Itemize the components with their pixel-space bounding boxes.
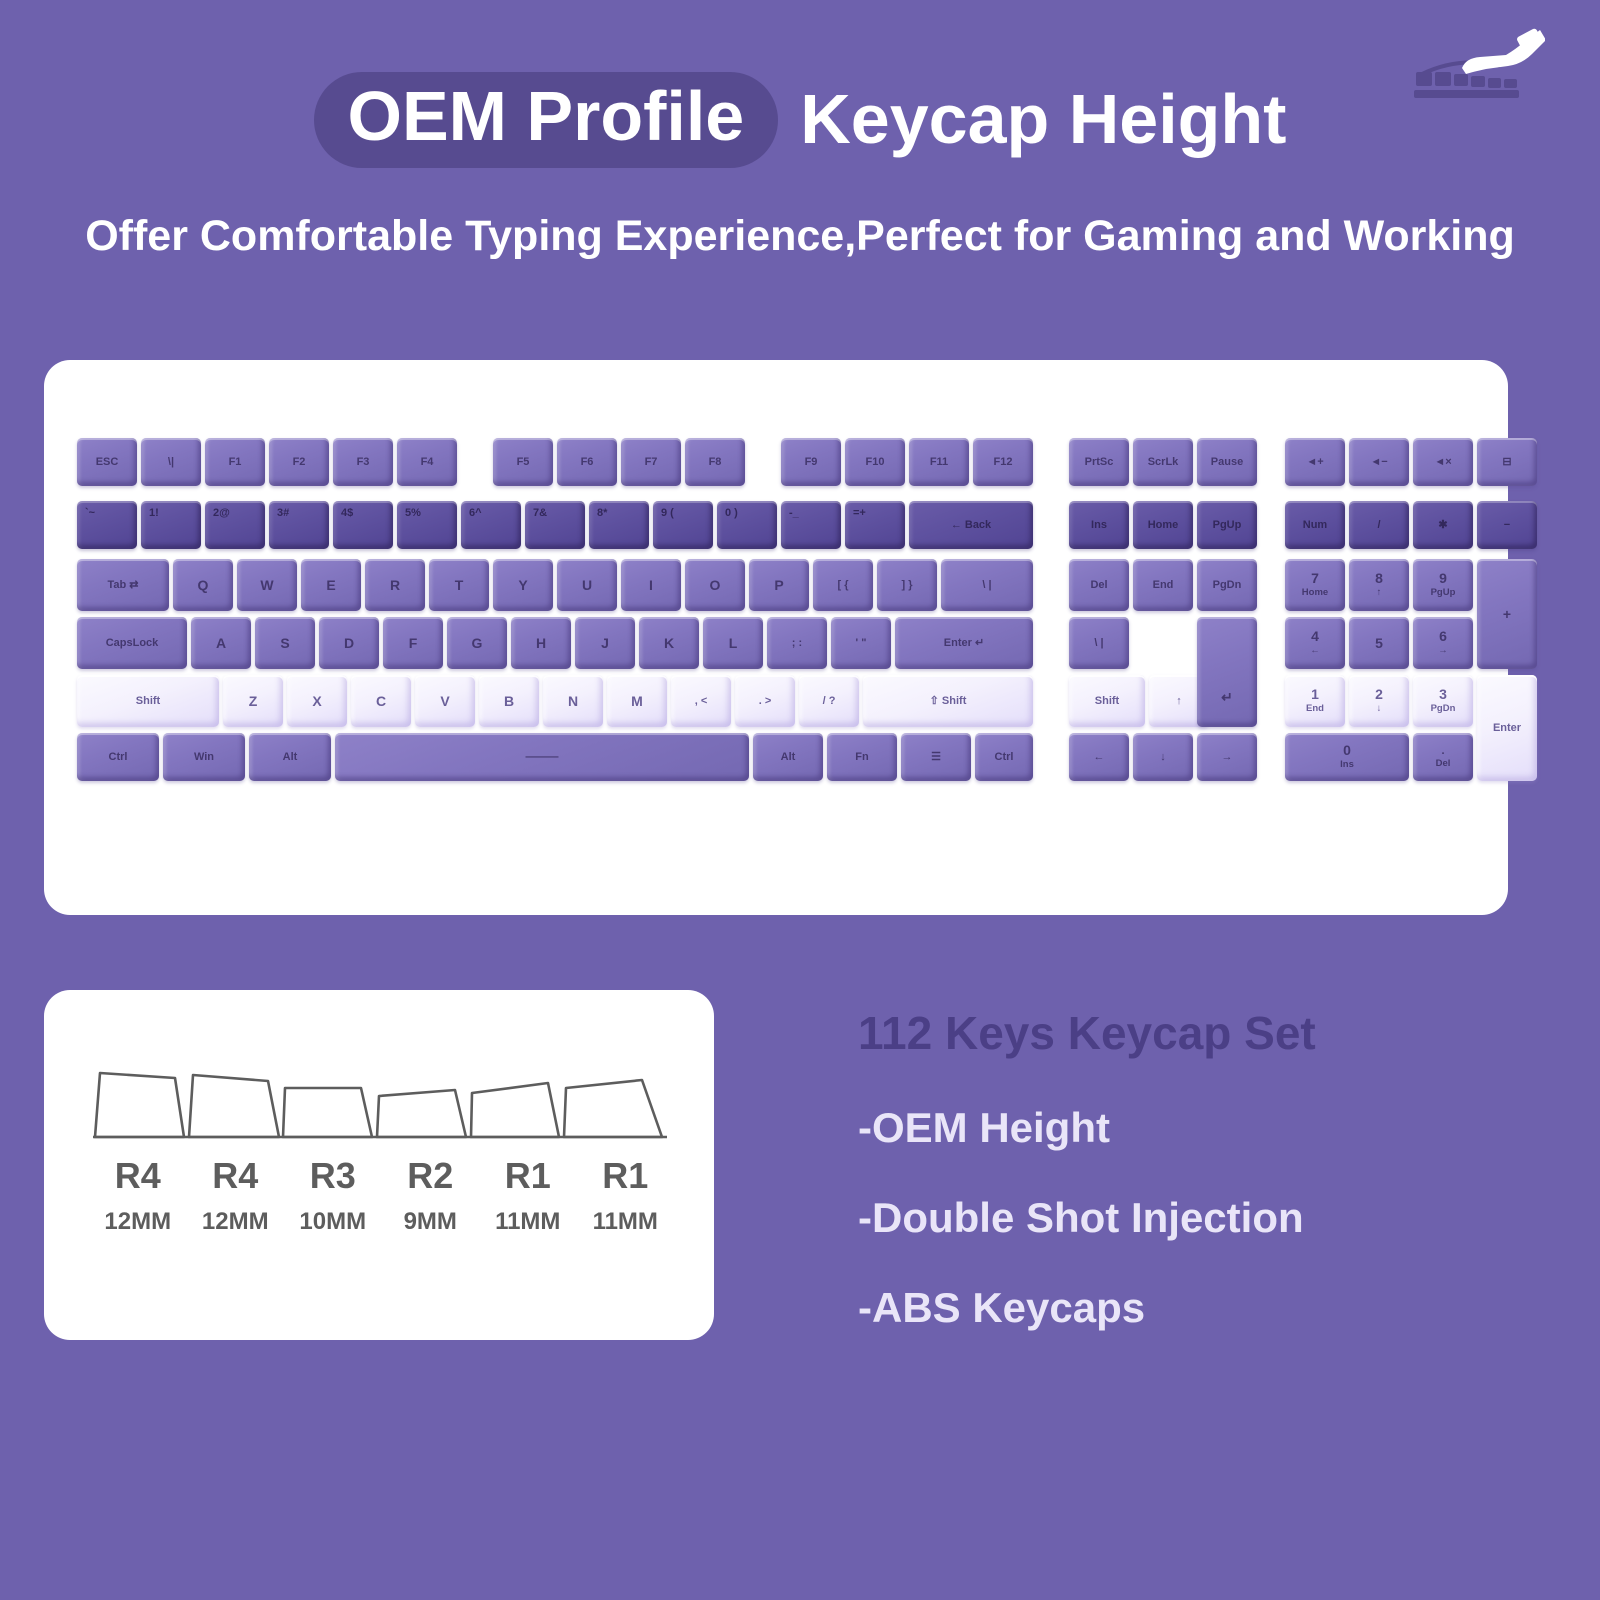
key-label: ◄+ (1306, 456, 1323, 468)
key-label: ScrLk (1148, 456, 1179, 468)
key-0[interactable]: 0Ins (1285, 733, 1409, 781)
key-label: Tab ⇄ (107, 579, 138, 591)
key--[interactable]: . > (735, 675, 795, 727)
key-label: PrtSc (1085, 456, 1114, 468)
key-m[interactable]: M (607, 675, 667, 727)
key-label: Win (194, 751, 214, 763)
key-sublabel: Ins (1340, 760, 1354, 770)
key-9-[interactable]: 9 ( (653, 501, 713, 549)
key-numpad-plus[interactable]: + (1477, 559, 1537, 669)
key-label: ↑ (1176, 695, 1182, 707)
key-label: / ? (823, 695, 836, 707)
key-f4[interactable]: F4 (397, 438, 457, 486)
key-label: F8 (709, 456, 722, 468)
key-label: I (649, 578, 653, 593)
key-label: Pause (1211, 456, 1243, 468)
key-9[interactable]: 9PgUp (1413, 559, 1473, 611)
key-f5[interactable]: F5 (493, 438, 553, 486)
key-label: − (1504, 519, 1510, 531)
key-label: V (440, 694, 449, 709)
key-label: Ins (1091, 519, 1107, 531)
key--[interactable]: ' " (831, 617, 891, 669)
key-label: -_ (789, 507, 799, 519)
keyboard-card: ESC\|F1F2F3F4F5F6F7F8F9F10F11F12PrtScScr… (44, 360, 1508, 915)
key-label: ↓ (1160, 751, 1166, 763)
key--shift[interactable]: ⇧ Shift (863, 675, 1033, 727)
key-tab-[interactable]: Tab ⇄ (77, 559, 169, 611)
key--[interactable]: → (1197, 733, 1257, 781)
title-pill-label: OEM Profile (348, 80, 745, 154)
key-sublabel: → (1438, 646, 1448, 656)
profile-height-label: 12MM (89, 1208, 187, 1236)
key-label: L (729, 636, 738, 651)
key-scrlk[interactable]: ScrLk (1133, 438, 1193, 486)
key-prtsc[interactable]: PrtSc (1069, 438, 1129, 486)
key-f11[interactable]: F11 (909, 438, 969, 486)
profile-height-label: 11MM (479, 1208, 577, 1236)
keycap-profile-diagram (89, 1045, 674, 1150)
specs-heading: 112 Keys Keycap Set (858, 1006, 1558, 1060)
key-label: Ctrl (995, 751, 1014, 763)
key--[interactable]: -_ (781, 501, 841, 549)
key-label: 9 (1439, 571, 1447, 586)
key-b[interactable]: B (479, 675, 539, 727)
key-pgup[interactable]: PgUp (1197, 501, 1257, 549)
key-label: C (376, 694, 386, 709)
key--[interactable]: , < (671, 675, 731, 727)
key-label: ◄− (1370, 456, 1387, 468)
key-5-[interactable]: 5% (397, 501, 457, 549)
key-label: ✱ (1438, 519, 1447, 531)
spec-item: -OEM Height (858, 1104, 1558, 1152)
key-label: CapsLock (106, 637, 159, 649)
key-label: F1 (229, 456, 242, 468)
key-0-[interactable]: 0 ) (717, 501, 777, 549)
key-label: 3 (1439, 687, 1447, 702)
key-label: Alt (283, 751, 298, 763)
key-p[interactable]: P (749, 559, 809, 611)
key-n[interactable]: N (543, 675, 603, 727)
key-label: W (260, 578, 273, 593)
key--[interactable]: ; : (767, 617, 827, 669)
key-home[interactable]: Home (1133, 501, 1193, 549)
key-label: F11 (930, 456, 948, 468)
key-label: Shift (136, 695, 160, 707)
key-label: Num (1303, 519, 1327, 531)
key-1-[interactable]: 1! (141, 501, 201, 549)
key-num[interactable]: Num (1285, 501, 1345, 549)
key-label: 8 (1375, 571, 1383, 586)
key-enter-[interactable]: Enter ↵ (895, 617, 1033, 669)
key-label: 0 (1343, 743, 1351, 758)
key-label: 5% (405, 507, 421, 519)
key--[interactable]: [ { (813, 559, 873, 611)
key-2[interactable]: 2↓ (1349, 675, 1409, 727)
key-label: Fn (855, 751, 868, 763)
key-label: F4 (421, 456, 434, 468)
key-o[interactable]: O (685, 559, 745, 611)
profile-row-label: R1 (479, 1155, 577, 1197)
keyboard-layout: ESC\|F1F2F3F4F5F6F7F8F9F10F11F12PrtScScr… (77, 438, 1497, 838)
key-sublabel: Home (1302, 588, 1328, 598)
key-f2[interactable]: F2 (269, 438, 329, 486)
key-1[interactable]: 1End (1285, 675, 1345, 727)
key-label: 5 (1375, 636, 1383, 651)
key-label: Q (198, 578, 209, 593)
key-label: \ | (982, 579, 991, 591)
key-label: 2@ (213, 507, 230, 519)
key-label: 1! (149, 507, 159, 519)
key-pgdn[interactable]: PgDn (1197, 559, 1257, 611)
key-label: 1 (1311, 687, 1319, 702)
key-label: A (216, 636, 226, 651)
key-pause[interactable]: Pause (1197, 438, 1257, 486)
key-7[interactable]: 7Home (1285, 559, 1345, 611)
key-label: . (1441, 745, 1444, 757)
key-fn[interactable]: Fn (827, 733, 897, 781)
key--[interactable]: \ | (941, 559, 1033, 611)
key-label: 6^ (469, 507, 482, 519)
key-shift[interactable]: Shift (77, 675, 219, 727)
key-lock-icon[interactable]: ⊟ (1477, 438, 1537, 486)
key--[interactable]: `~ (77, 501, 137, 549)
profile-height-label: 10MM (284, 1208, 382, 1236)
key-numpad-enter[interactable]: Enter (1477, 675, 1537, 781)
key-f8[interactable]: F8 (685, 438, 745, 486)
key-volume-up-icon[interactable]: ◄+ (1285, 438, 1345, 486)
key-label: X (312, 694, 321, 709)
key-label: Y (518, 578, 527, 593)
key-c[interactable]: C (351, 675, 411, 727)
key-alt[interactable]: Alt (753, 733, 823, 781)
title-pill: OEM Profile (314, 72, 779, 168)
infographic-page: OEM Profile Keycap Height Offer Comforta… (0, 0, 1600, 1600)
key-label: ⇧ Shift (930, 695, 967, 707)
key-label: Z (249, 694, 258, 709)
specs-block: 112 Keys Keycap Set -OEM Height-Double S… (858, 1006, 1558, 1374)
key-label: F3 (357, 456, 370, 468)
key-label: K (664, 636, 674, 651)
key-6[interactable]: 6→ (1413, 617, 1473, 669)
key--[interactable]: / (1349, 501, 1409, 549)
key-z[interactable]: Z (223, 675, 283, 727)
key-sublabel: PgDn (1431, 704, 1456, 714)
key-label: 8* (597, 507, 607, 519)
key-f[interactable]: F (383, 617, 443, 669)
key-label: E (326, 578, 335, 593)
key-f10[interactable]: F10 (845, 438, 905, 486)
key-label: =+ (853, 507, 866, 519)
key-sublabel: ← (1310, 646, 1320, 656)
key-label: `~ (85, 507, 95, 519)
profile-row-label: R1 (577, 1155, 675, 1197)
key-ctrl[interactable]: Ctrl (77, 733, 159, 781)
key-label: End (1153, 579, 1174, 591)
key-5[interactable]: 5 (1349, 617, 1409, 669)
key-label: F5 (517, 456, 530, 468)
key--[interactable]: / ? (799, 675, 859, 727)
key-esc[interactable]: ESC (77, 438, 137, 486)
key-4[interactable]: 4← (1285, 617, 1345, 669)
key-label: P (774, 578, 783, 593)
key-label: . > (759, 695, 772, 707)
key-ins[interactable]: Ins (1069, 501, 1129, 549)
key-label: PgUp (1213, 519, 1242, 531)
key--[interactable]: ] } (877, 559, 937, 611)
key-label: + (1503, 607, 1511, 622)
profile-row-label: R2 (382, 1155, 480, 1197)
key-label: 4 (1311, 629, 1319, 644)
key-f3[interactable]: F3 (333, 438, 393, 486)
key--[interactable]: \ | (1069, 617, 1129, 669)
key-r[interactable]: R (365, 559, 425, 611)
key-j[interactable]: J (575, 617, 635, 669)
key-iso-enter[interactable]: ↵ (1197, 617, 1257, 727)
key-ctrl[interactable]: Ctrl (975, 733, 1033, 781)
key-label: 9 ( (661, 507, 674, 519)
key-label: Alt (781, 751, 796, 763)
key--[interactable]: \| (141, 438, 201, 486)
key-menu-icon[interactable]: ☰ (901, 733, 971, 781)
key-label: ◄× (1434, 456, 1451, 468)
key-label: / (1377, 519, 1380, 531)
key-x[interactable]: X (287, 675, 347, 727)
key-label: ☰ (931, 751, 941, 763)
key-f6[interactable]: F6 (557, 438, 617, 486)
key-v[interactable]: V (415, 675, 475, 727)
key-label: ] } (902, 579, 913, 591)
key-end[interactable]: End (1133, 559, 1193, 611)
key-label: 3# (277, 507, 289, 519)
key-label: Enter ↵ (944, 637, 984, 649)
key-label: U (582, 578, 592, 593)
key-6-[interactable]: 6^ (461, 501, 521, 549)
key-label: Home (1148, 519, 1179, 531)
key-label: B (504, 694, 514, 709)
key-label: → (1222, 751, 1233, 763)
key-label: T (455, 578, 464, 593)
key-y[interactable]: Y (493, 559, 553, 611)
title-rest-label: Keycap Height (800, 83, 1286, 157)
key-label: M (631, 694, 643, 709)
spec-item: -ABS Keycaps (858, 1284, 1558, 1332)
key-s[interactable]: S (255, 617, 315, 669)
key-del[interactable]: Del (1069, 559, 1129, 611)
key-label: D (344, 636, 354, 651)
key-win[interactable]: Win (163, 733, 245, 781)
key-f12[interactable]: F12 (973, 438, 1033, 486)
profile-height-label: 12MM (187, 1208, 285, 1236)
key-d[interactable]: D (319, 617, 379, 669)
key--[interactable]: =+ (845, 501, 905, 549)
page-subtitle: Offer Comfortable Typing Experience,Perf… (0, 212, 1600, 261)
key-label: H (536, 636, 546, 651)
key-label: , < (695, 695, 708, 707)
key-label: \ | (1094, 637, 1103, 649)
profile-row-labels: R4R4R3R2R1R1 (89, 1155, 674, 1197)
key-label: ← (1094, 751, 1105, 763)
key-label: F2 (293, 456, 306, 468)
key-label: ⊟ (1502, 456, 1511, 468)
key-spacebar[interactable]: ——— (335, 733, 749, 781)
key-2-[interactable]: 2@ (205, 501, 265, 549)
specs-list: -OEM Height-Double Shot Injection-ABS Ke… (858, 1104, 1558, 1332)
key-label: 0 ) (725, 507, 738, 519)
key-label: Ctrl (109, 751, 128, 763)
key-f7[interactable]: F7 (621, 438, 681, 486)
key-sublabel: Del (1436, 759, 1451, 769)
key-label: 4$ (341, 507, 353, 519)
key--[interactable]: ← (1069, 733, 1129, 781)
key-label: ——— (526, 751, 559, 763)
key-7-[interactable]: 7& (525, 501, 585, 549)
key--[interactable]: − (1477, 501, 1537, 549)
key-label: O (710, 578, 721, 593)
profile-height-label: 9MM (382, 1208, 480, 1236)
key-capslock[interactable]: CapsLock (77, 617, 187, 669)
key-8-[interactable]: 8* (589, 501, 649, 549)
key-label: J (601, 636, 609, 651)
key-sublabel: PgUp (1431, 588, 1456, 598)
key-label: [ { (838, 579, 849, 591)
key-e[interactable]: E (301, 559, 361, 611)
key-label: ESC (96, 456, 119, 468)
key-h[interactable]: H (511, 617, 571, 669)
key-label: G (472, 636, 483, 651)
key--back[interactable]: ← Back (909, 501, 1033, 549)
key-label: Shift (1095, 695, 1119, 707)
key-f9[interactable]: F9 (781, 438, 841, 486)
key-label: F10 (866, 456, 885, 468)
key-k[interactable]: K (639, 617, 699, 669)
key-i[interactable]: I (621, 559, 681, 611)
key-sublabel: End (1306, 704, 1324, 714)
profile-row-label: R3 (284, 1155, 382, 1197)
key--[interactable]: .Del (1413, 733, 1473, 781)
key-alt[interactable]: Alt (249, 733, 331, 781)
profile-row-label: R4 (187, 1155, 285, 1197)
key-label: ' " (856, 637, 867, 649)
profile-height-label: 11MM (577, 1208, 675, 1236)
page-title: OEM Profile Keycap Height (0, 72, 1600, 168)
key-a[interactable]: A (191, 617, 251, 669)
key-label: PgDn (1213, 579, 1242, 591)
key-3[interactable]: 3PgDn (1413, 675, 1473, 727)
key-u[interactable]: U (557, 559, 617, 611)
key-label: R (390, 578, 400, 593)
key-q[interactable]: Q (173, 559, 233, 611)
key--[interactable]: ↓ (1133, 733, 1193, 781)
key-t[interactable]: T (429, 559, 489, 611)
profile-card: R4R4R3R2R1R1 12MM12MM10MM9MM11MM11MM (44, 990, 714, 1340)
key-l[interactable]: L (703, 617, 763, 669)
key-label: F6 (581, 456, 594, 468)
key-8[interactable]: 8↑ (1349, 559, 1409, 611)
key-volume-down-icon[interactable]: ◄− (1349, 438, 1409, 486)
key-g[interactable]: G (447, 617, 507, 669)
key-4-[interactable]: 4$ (333, 501, 393, 549)
key-label: F7 (645, 456, 658, 468)
key-mute-icon[interactable]: ◄× (1413, 438, 1473, 486)
spec-item: -Double Shot Injection (858, 1194, 1558, 1242)
key-f1[interactable]: F1 (205, 438, 265, 486)
key-label: Del (1090, 579, 1107, 591)
key-label: ← Back (951, 519, 991, 531)
key-label: Enter (1493, 722, 1521, 734)
key-label: F9 (805, 456, 818, 468)
key-label: 7 (1311, 571, 1319, 586)
iso-enter-body: ↵ (1197, 617, 1257, 727)
profile-height-labels: 12MM12MM10MM9MM11MM11MM (89, 1208, 674, 1236)
key-label: S (280, 636, 289, 651)
key-sublabel: ↓ (1377, 704, 1382, 714)
key-label: ↵ (1221, 690, 1233, 705)
profile-row-label: R4 (89, 1155, 187, 1197)
key-label: N (568, 694, 578, 709)
key-label: 2 (1375, 687, 1383, 702)
key-label: F12 (994, 456, 1013, 468)
key-3-[interactable]: 3# (269, 501, 329, 549)
key--[interactable]: ✱ (1413, 501, 1473, 549)
key-label: 6 (1439, 629, 1447, 644)
key-label: ; : (792, 637, 802, 649)
key-shift[interactable]: Shift (1069, 675, 1145, 727)
key-label: F (409, 636, 418, 651)
key-label: \| (168, 456, 174, 468)
key-label: 7& (533, 507, 547, 519)
key-sublabel: ↑ (1377, 588, 1382, 598)
key-w[interactable]: W (237, 559, 297, 611)
